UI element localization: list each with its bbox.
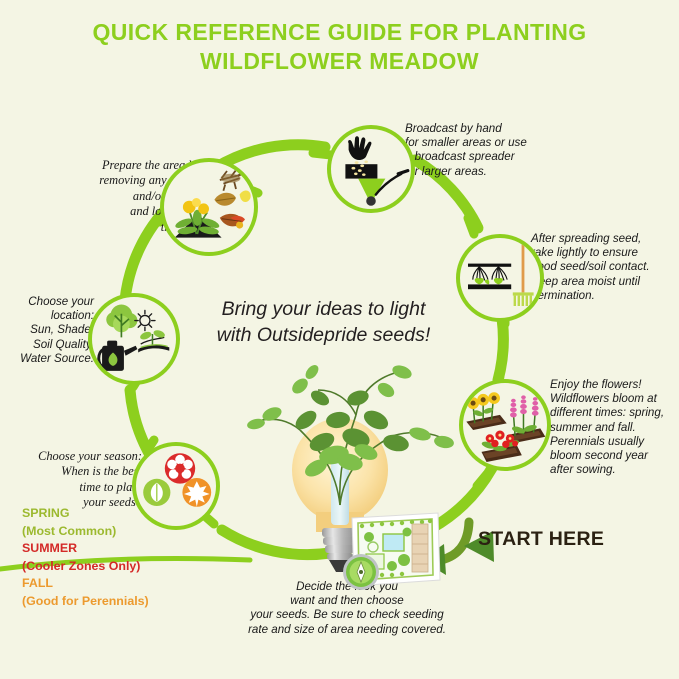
weeds-and-debris-icon — [164, 162, 254, 252]
brand-tagline: Bring your ideas to light with Outsidepr… — [176, 296, 471, 348]
season-note-summer: (Cooler Zones Only) — [22, 558, 149, 576]
node-rake-lightly[interactable] — [456, 234, 544, 322]
step-text-broadcast-seed: Broadcast by hand for smaller areas or u… — [405, 122, 585, 179]
node-enjoy-flowers[interactable] — [459, 379, 551, 471]
node-broadcast-seed[interactable] — [327, 125, 415, 213]
watering-and-rake-icon — [460, 238, 540, 318]
title-line-1: QUICK REFERENCE GUIDE FOR PLANTING — [0, 18, 679, 47]
step-text-decide-look: Decide the look you want and then choose… — [232, 580, 462, 637]
step-text-choose-location: Choose your location: Sun, Shade, Soil Q… — [6, 295, 94, 366]
season-name-fall: FALL — [22, 575, 149, 593]
season-name-summer: SUMMER — [22, 540, 149, 558]
node-choose-location[interactable] — [88, 293, 180, 385]
season-name-spring: SPRING — [22, 505, 149, 523]
step-text-enjoy-flowers: Enjoy the flowers! Wildflowers bloom at … — [550, 378, 679, 477]
node-prepare-area[interactable] — [160, 158, 258, 256]
flower-planters-icon — [463, 383, 547, 467]
season-leaves-icon — [136, 446, 216, 526]
start-here-label: START HERE — [478, 528, 604, 551]
infographic-canvas: QUICK REFERENCE GUIDE FOR PLANTING WILDF… — [0, 0, 679, 679]
season-note-fall: (Good for Perennials) — [22, 593, 149, 611]
hand-broadcasting-seed-icon — [331, 129, 411, 209]
page-title: QUICK REFERENCE GUIDE FOR PLANTING WILDF… — [0, 18, 679, 76]
node-choose-season[interactable] — [132, 442, 220, 530]
step-text-rake-lightly: After spreading seed, rake lightly to en… — [531, 232, 679, 303]
tree-sun-wateringcan-icon — [92, 297, 176, 381]
season-legend: SPRING (Most Common) SUMMER (Cooler Zone… — [22, 505, 149, 611]
title-line-2: WILDFLOWER MEADOW — [0, 47, 679, 76]
season-note-spring: (Most Common) — [22, 523, 149, 541]
start-here-arrow — [421, 522, 469, 575]
step-text-choose-season: Choose your season: When is the best tim… — [12, 449, 142, 511]
